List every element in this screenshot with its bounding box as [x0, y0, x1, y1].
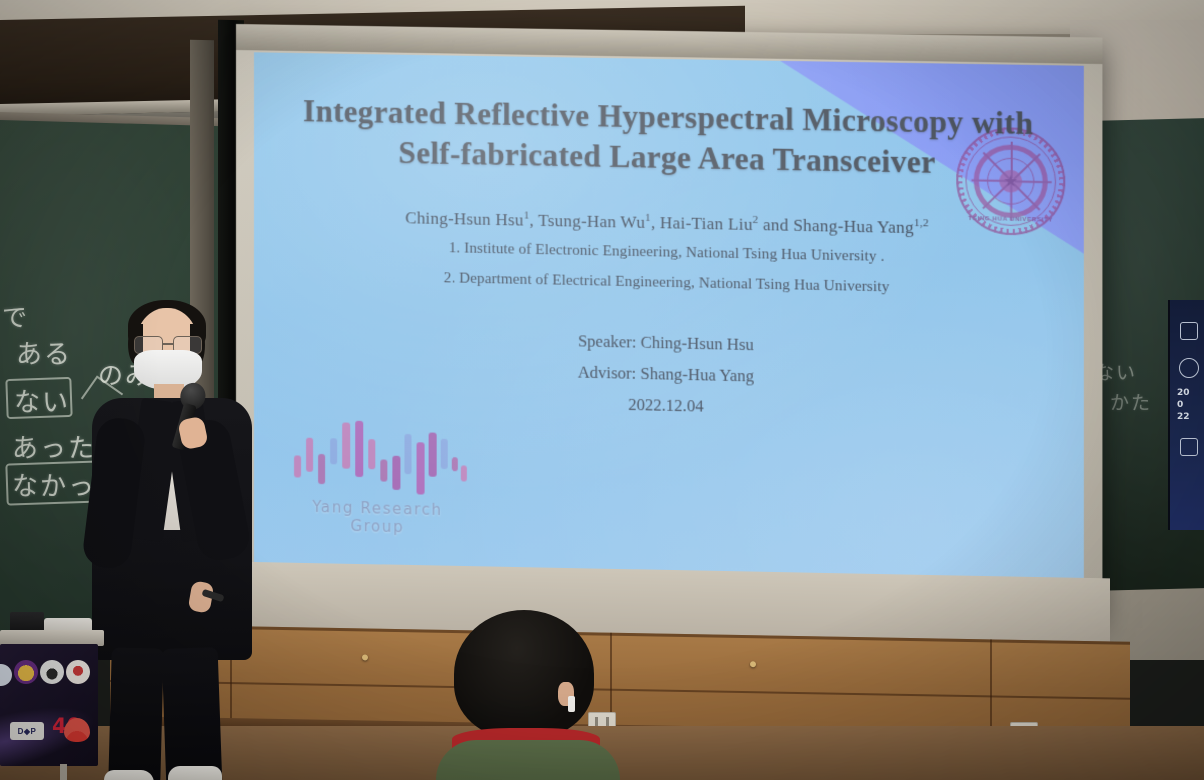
- logo-bar: [294, 455, 301, 477]
- audience-hair: [454, 610, 594, 738]
- poster-number-1: 0: [1177, 400, 1183, 410]
- author-2: Tsung-Han Wu: [538, 210, 645, 231]
- logo-label: Yang Research Group: [288, 497, 467, 538]
- cart-sticker-4: [66, 660, 90, 684]
- author-sep-3: and: [759, 215, 794, 235]
- cabinet-knob-2[interactable]: [750, 661, 756, 667]
- presenter: [84, 300, 259, 780]
- logo-waveform-icon: [288, 415, 467, 497]
- right-wall-poster: 20 0 22: [1168, 300, 1204, 530]
- presenter-leg-right: [162, 647, 223, 780]
- poster-document-icon: [1180, 322, 1198, 340]
- author-sep-1: ,: [529, 210, 538, 229]
- logo-bar: [441, 439, 448, 469]
- cart-front-panel: D◆P 40: [0, 644, 98, 766]
- logo-bar: [355, 421, 363, 477]
- author-3: Hai-Tian Liu: [660, 213, 753, 234]
- author-sep-2: ,: [651, 213, 660, 232]
- logo-bar: [330, 438, 337, 464]
- logo-bar: [318, 454, 325, 484]
- cart-sticker-3: [40, 660, 64, 684]
- presenter-shoe-left: [104, 770, 154, 780]
- logo-bar: [429, 432, 437, 476]
- poster-number-2: 22: [1177, 412, 1190, 422]
- cart-sticker-shell-icon: [64, 718, 90, 742]
- slide-affiliation-1: 1. Institute of Electronic Engineering, …: [254, 236, 1084, 270]
- presentation-slide[interactable]: TSING HUA UNIVERSITY Integrated Reflecti…: [254, 52, 1084, 586]
- chalk-box-nai: [5, 377, 72, 419]
- author-1: Ching-Hsun Hsu: [405, 208, 524, 229]
- cart-sticker-1: [0, 664, 12, 686]
- cart-leg: [60, 764, 67, 780]
- audience-member: [432, 610, 622, 780]
- cabinet-knob-1[interactable]: [362, 654, 368, 660]
- logo-bar: [452, 457, 458, 471]
- poster-clock-icon: [1179, 358, 1199, 378]
- logo-bar: [417, 442, 425, 494]
- slide-advisor: Advisor: Shang-Hua Yang: [254, 355, 1084, 393]
- projection-screen[interactable]: TSING HUA UNIVERSITY Integrated Reflecti…: [236, 24, 1102, 617]
- lecture-hall-scene: で ある のみ ない あった なかった ない かた 20 0 22: [0, 0, 1204, 780]
- slide-title: Integrated Reflective Hyperspectral Micr…: [254, 90, 1084, 185]
- audience-earphone: [568, 696, 575, 712]
- equipment-cart: D◆P 40: [0, 612, 106, 780]
- logo-bar: [306, 438, 313, 472]
- author-4: Shang-Hua Yang: [793, 215, 914, 237]
- yang-research-group-logo: Yang Research Group: [288, 415, 467, 536]
- audience-green-jacket: [436, 740, 620, 780]
- slide-affiliation-2: 2. Department of Electrical Engineering,…: [254, 266, 1084, 300]
- author-4-sup: 1,2: [914, 217, 929, 229]
- logo-bar: [392, 456, 400, 490]
- slide-speaker: Speaker: Ching-Hsun Hsu: [254, 324, 1084, 362]
- logo-bar: [404, 434, 411, 474]
- logo-bar: [380, 459, 387, 481]
- logo-bar: [461, 465, 467, 481]
- cart-sticker-dop: D◆P: [10, 722, 44, 740]
- presenter-leg-left: [108, 647, 164, 780]
- logo-bar: [368, 439, 375, 469]
- poster-number-0: 20: [1177, 388, 1190, 398]
- presenter-shoe-right: [168, 766, 222, 780]
- poster-badge-icon: [1180, 438, 1198, 456]
- cart-sticker-2: [14, 660, 38, 684]
- logo-bar: [342, 422, 350, 468]
